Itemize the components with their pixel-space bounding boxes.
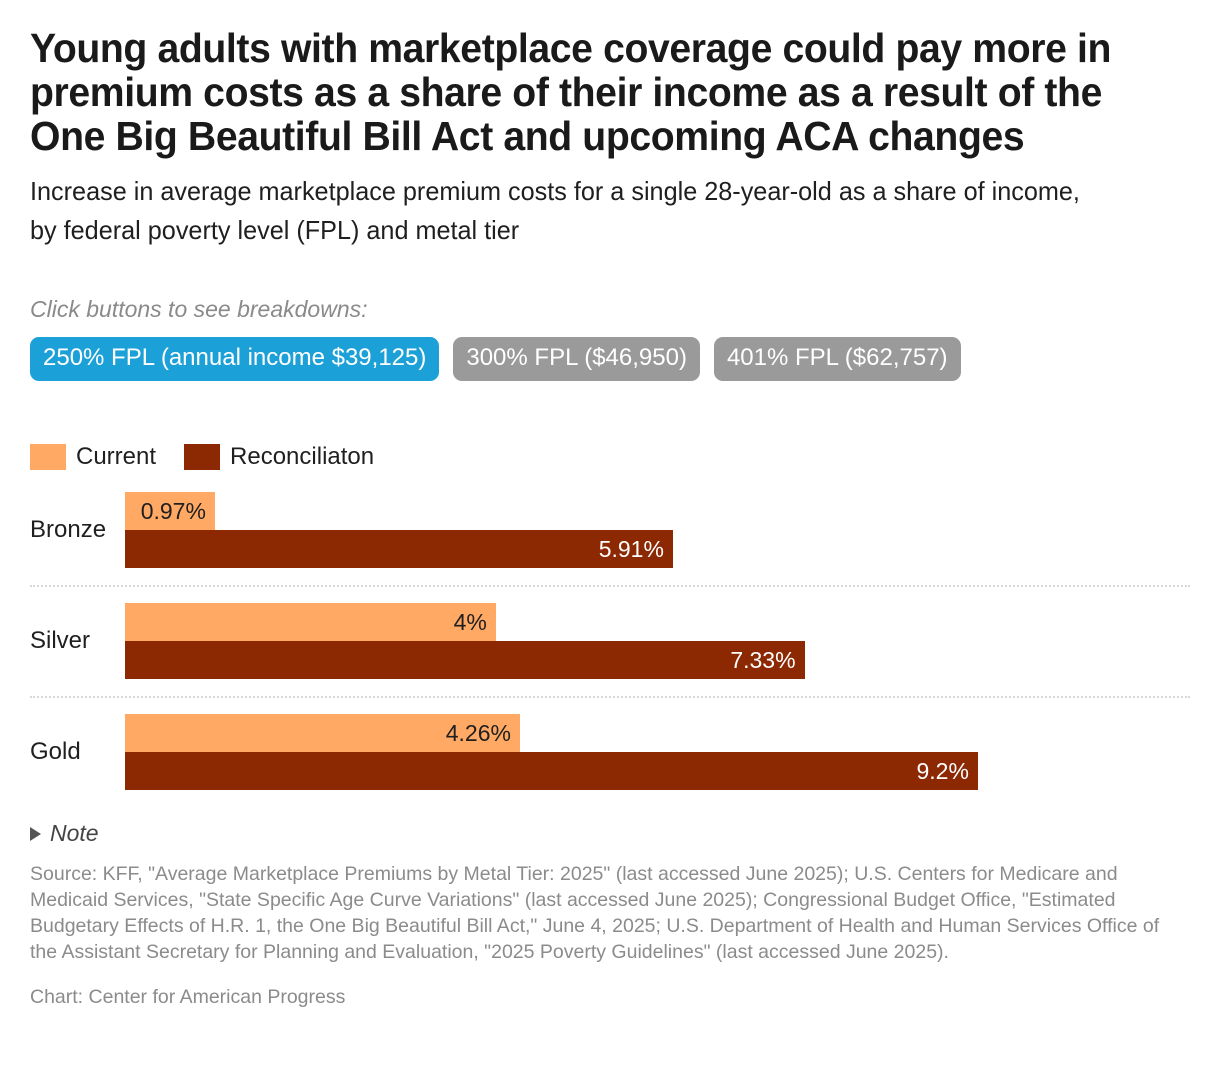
- fpl-button-2[interactable]: 300% FPL ($46,950): [453, 337, 700, 381]
- chart-legend: CurrentReconciliaton: [30, 381, 1190, 471]
- legend-label: Reconciliaton: [230, 443, 374, 471]
- bar-group-silver: Silver4%7.33%: [30, 603, 1190, 679]
- bar-gold-current[interactable]: 4.26%: [125, 714, 520, 752]
- category-label: Gold: [30, 738, 125, 766]
- bar-value-label: 7.33%: [730, 647, 804, 674]
- chart-page: Young adults with marketplace coverage c…: [0, 0, 1220, 1010]
- page-subtitle: Increase in average marketplace premium …: [30, 158, 1107, 250]
- bar-pair: 4%7.33%: [125, 603, 1190, 679]
- click-hint-text: Click buttons to see breakdowns:: [30, 250, 1190, 323]
- bar-group-bronze: Bronze0.97%5.91%: [30, 492, 1190, 568]
- note-label: Note: [50, 820, 99, 847]
- bar-group-gold: Gold4.26%9.2%: [30, 714, 1190, 790]
- legend-label: Current: [76, 443, 156, 471]
- bar-chart: Bronze0.97%5.91%Silver4%7.33%Gold4.26%9.…: [30, 471, 1190, 790]
- legend-item-current[interactable]: Current: [30, 443, 156, 471]
- row-separator: [30, 585, 1190, 587]
- bar-silver-current[interactable]: 4%: [125, 603, 496, 641]
- row-separator: [30, 696, 1190, 698]
- bar-gold-reconciliaton[interactable]: 9.2%: [125, 752, 978, 790]
- bar-pair: 0.97%5.91%: [125, 492, 1190, 568]
- bar-bronze-reconciliaton[interactable]: 5.91%: [125, 530, 673, 568]
- fpl-button-1[interactable]: 250% FPL (annual income $39,125): [30, 337, 439, 381]
- fpl-button-3[interactable]: 401% FPL ($62,757): [714, 337, 961, 381]
- category-label: Silver: [30, 627, 125, 655]
- bar-value-label: 5.91%: [599, 536, 673, 563]
- source-text: Source: KFF, "Average Marketplace Premiu…: [30, 847, 1190, 965]
- bar-value-label: 0.97%: [141, 498, 215, 525]
- note-disclosure[interactable]: Note: [30, 790, 1190, 847]
- bar-silver-reconciliaton[interactable]: 7.33%: [125, 641, 805, 679]
- page-title: Young adults with marketplace coverage c…: [30, 0, 1128, 158]
- fpl-button-group: 250% FPL (annual income $39,125)300% FPL…: [30, 323, 1190, 381]
- bar-value-label: 9.2%: [916, 758, 977, 785]
- bar-pair: 4.26%9.2%: [125, 714, 1190, 790]
- legend-swatch-icon: [184, 444, 220, 470]
- triangle-right-icon: [30, 827, 41, 841]
- bar-bronze-current[interactable]: 0.97%: [125, 492, 215, 530]
- chart-credit: Chart: Center for American Progress: [30, 965, 1190, 1010]
- legend-swatch-icon: [30, 444, 66, 470]
- bar-value-label: 4.26%: [446, 720, 520, 747]
- legend-item-reconciliaton[interactable]: Reconciliaton: [184, 443, 374, 471]
- bar-value-label: 4%: [454, 609, 496, 636]
- category-label: Bronze: [30, 516, 125, 544]
